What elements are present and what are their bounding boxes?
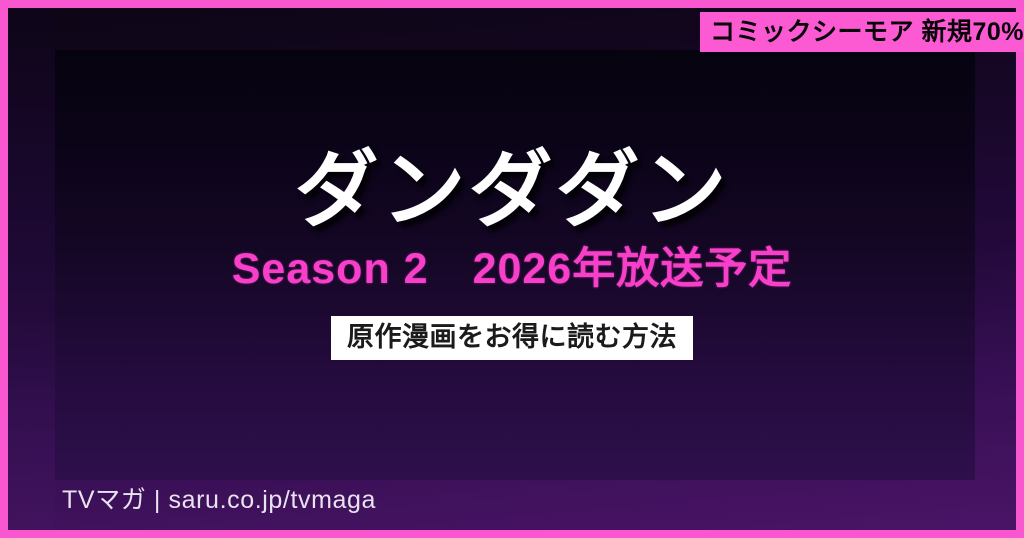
page-title: ダンダダン xyxy=(294,146,729,234)
season-subtitle: Season 2 2026年放送予定 xyxy=(232,246,792,293)
footer-credit: TVマガ | saru.co.jp/tvmaga xyxy=(62,480,376,516)
thumbnail-canvas: コミックシーモア 新規70%O ダンダダン Season 2 2026年放送予定… xyxy=(0,0,1024,538)
caption-label: 原作漫画をお得に読む方法 xyxy=(347,322,677,352)
left-edge-gradient xyxy=(8,8,55,530)
caption-box: 原作漫画をお得に読む方法 xyxy=(331,316,693,360)
promo-banner[interactable]: コミックシーモア 新規70%O xyxy=(700,12,1024,52)
promo-banner-label: コミックシーモア 新規70%O xyxy=(710,20,1024,45)
